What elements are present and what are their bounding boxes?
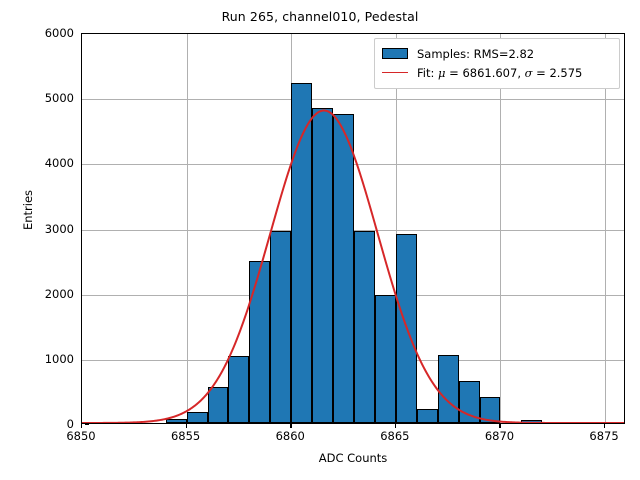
- x-tick-label: 6850: [41, 429, 121, 443]
- plot-area: [81, 33, 625, 424]
- legend-mu-value: = 6861.607,: [446, 66, 525, 80]
- x-tick-mark: [395, 424, 396, 428]
- fit-curve-path: [82, 111, 624, 423]
- y-tick-label: 3000: [14, 222, 74, 236]
- fit-line-swatch-icon: [382, 72, 408, 73]
- x-tick-mark: [290, 424, 291, 428]
- gaussian-fit-curve: [82, 34, 624, 423]
- y-tick-label: 5000: [14, 91, 74, 105]
- legend-mu-symbol: μ: [438, 66, 445, 80]
- samples-swatch-icon: [382, 48, 408, 59]
- x-tick-mark: [81, 424, 82, 428]
- y-tick-label: 1000: [14, 352, 74, 366]
- histogram-figure: Run 265, channel010, Pedestal Entries AD…: [0, 0, 640, 480]
- y-tick-label: 4000: [14, 156, 74, 170]
- legend-fit-prefix: Fit:: [417, 66, 438, 80]
- legend-label-fit: Fit: μ = 6861.607, σ = 2.575: [417, 66, 582, 80]
- x-tick-label: 6855: [146, 429, 226, 443]
- y-tick-mark: [85, 424, 89, 425]
- x-tick-mark: [186, 424, 187, 428]
- y-tick-label: 6000: [14, 26, 74, 40]
- x-tick-label: 6870: [459, 429, 539, 443]
- legend-label-samples: Samples: RMS=2.82: [417, 47, 534, 61]
- legend-sigma-value: = 2.575: [533, 66, 583, 80]
- legend-item-fit[interactable]: Fit: μ = 6861.607, σ = 2.575: [382, 63, 612, 82]
- legend-item-samples[interactable]: Samples: RMS=2.82: [382, 44, 612, 63]
- legend-sigma-symbol: σ: [525, 66, 533, 80]
- chart-legend[interactable]: Samples: RMS=2.82 Fit: μ = 6861.607, σ =…: [374, 38, 620, 89]
- x-tick-mark: [499, 424, 500, 428]
- y-tick-label: 2000: [14, 287, 74, 301]
- y-axis-tick-labels: 0100020003000400050006000: [8, 0, 74, 480]
- x-tick-mark: [604, 424, 605, 428]
- x-tick-label: 6875: [564, 429, 640, 443]
- x-tick-label: 6865: [355, 429, 435, 443]
- x-tick-label: 6860: [250, 429, 330, 443]
- page-title: Run 265, channel010, Pedestal: [0, 9, 640, 24]
- x-axis-label: ADC Counts: [81, 451, 625, 465]
